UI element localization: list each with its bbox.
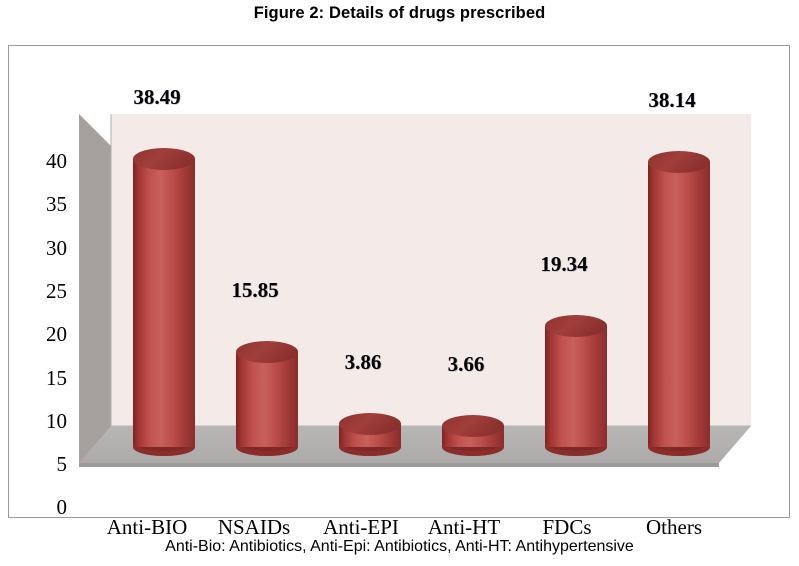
y-tick-15: 15	[15, 368, 67, 389]
bar-nsaids[interactable]	[236, 341, 298, 456]
value-label-anti-bio: 38.49	[102, 87, 212, 108]
y-tick-40: 40	[15, 151, 67, 172]
x-label-others: Others	[609, 517, 739, 538]
y-tick-35: 35	[15, 194, 67, 215]
bar-others[interactable]	[648, 151, 710, 456]
y-tick-5: 5	[15, 454, 67, 475]
value-label-anti-epi: 3.86	[308, 352, 418, 373]
figure-caption: Anti-Bio: Antibiotics, Anti-Epi: Antibio…	[0, 538, 799, 556]
chart-frame: 40 35 30 25 20 15 10 5 0 38.49 15.85 3.8…	[8, 45, 790, 518]
bar-anti-epi[interactable]	[339, 413, 401, 456]
figure-title: Figure 2: Details of drugs prescribed	[0, 4, 799, 23]
plot-scene	[9, 46, 791, 519]
bar-anti-bio[interactable]	[133, 148, 195, 456]
y-tick-20: 20	[15, 324, 67, 345]
y-tick-10: 10	[15, 411, 67, 432]
y-tick-0: 0	[15, 497, 67, 518]
y-tick-25: 25	[15, 281, 67, 302]
bar-anti-ht[interactable]	[442, 415, 504, 456]
y-tick-30: 30	[15, 238, 67, 259]
floor-front-edge	[79, 463, 719, 467]
value-label-anti-ht: 3.66	[411, 354, 521, 375]
value-label-nsaids: 15.85	[200, 280, 310, 301]
back-wall-side	[79, 114, 111, 463]
value-label-others: 38.14	[617, 90, 727, 111]
bar-fdcs[interactable]	[545, 315, 607, 456]
value-label-fdcs: 19.34	[509, 254, 619, 275]
